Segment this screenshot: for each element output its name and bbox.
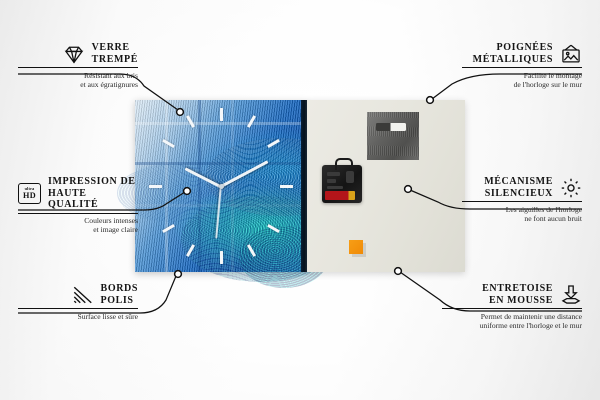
callout-mecanisme-silencieux: MÉCANISME SILENCIEUX Les aiguilles de l'… [462, 176, 582, 223]
callout-rule [462, 67, 582, 68]
callout-desc-line1: Facilite le montage [462, 71, 582, 80]
wall-frame-icon [560, 43, 582, 65]
callout-title-line2: HAUTE QUALITÉ [48, 188, 138, 211]
clock-battery [325, 191, 355, 200]
clock-center-hub [219, 184, 224, 189]
callout-title-line1: POIGNÉES [473, 42, 553, 54]
callout-title-line1: BORDS [101, 283, 138, 295]
metal-hanger-plate [367, 112, 419, 160]
callout-title-line2: MÉTALLIQUES [473, 54, 553, 66]
callout-title-line1: ENTRETOISE [482, 283, 553, 295]
down-arrow-pad-icon [560, 284, 582, 306]
callout-title-line2: SILENCIEUX [484, 188, 553, 200]
clock-tick [220, 108, 223, 121]
callout-rule [442, 308, 582, 309]
callout-desc-line2: de l'horloge sur le mur [462, 80, 582, 89]
clock-tick [220, 251, 223, 264]
callout-title-line2: EN MOUSSE [482, 295, 553, 307]
foam-spacer [349, 240, 363, 254]
callout-title-line1: VERRE [92, 42, 138, 54]
clock-tick [149, 185, 162, 188]
callout-title-line1: MÉCANISME [484, 176, 553, 188]
callout-desc-line2: ne font aucun bruit [462, 214, 582, 223]
infographic-canvas: VERRE TREMPÉ Résistant aux bris et aux é… [0, 0, 600, 400]
callout-poignees-metalliques: POIGNÉES MÉTALLIQUES Facilite le montage… [462, 42, 582, 89]
callout-title-line2: POLIS [101, 295, 138, 307]
callout-title-line1: IMPRESSION DE [48, 176, 138, 188]
callout-verre-trempe: VERRE TREMPÉ Résistant aux bris et aux é… [18, 42, 138, 89]
callout-rule [462, 201, 582, 202]
callout-desc-line1: Surface lisse et sûre [18, 312, 138, 321]
callout-rule [18, 213, 138, 214]
ultra-hd-icon: ultra HD [18, 183, 41, 204]
product-image [135, 100, 465, 272]
ultra-hd-large-text: HD [23, 192, 36, 200]
diamond-icon [63, 43, 85, 65]
callout-impression-haute-qualite: ultra HD IMPRESSION DE HAUTE QUALITÉ Cou… [18, 176, 138, 235]
callout-desc-line2: uniforme entre l'horloge et le mur [442, 321, 582, 330]
callout-bords-polis: BORDS POLIS Surface lisse et sûre [18, 283, 138, 321]
callout-desc-line1: Permet de maintenir une distance [442, 312, 582, 321]
hanger-slot [376, 123, 406, 131]
callout-entretoise-en-mousse: ENTRETOISE EN MOUSSE Permet de maintenir… [442, 283, 582, 330]
callout-desc-line1: Couleurs intenses [18, 216, 138, 225]
silent-clock-mechanism [322, 165, 362, 203]
callout-desc-line1: Résistant aux bris [18, 71, 138, 80]
callout-rule [18, 67, 138, 68]
callout-desc-line2: et image claire [18, 225, 138, 234]
callout-desc-line1: Les aiguilles de l'horloge [462, 205, 582, 214]
callout-title-line2: TREMPÉ [92, 54, 138, 66]
clock-tick [280, 185, 293, 188]
polished-edges-icon [72, 284, 94, 306]
clock-face-front [135, 100, 307, 272]
mechanism-hanging-loop [335, 158, 353, 170]
gear-icon [560, 177, 582, 199]
callout-desc-line2: et aux égratignures [18, 80, 138, 89]
clock-back-panel [307, 100, 465, 272]
callout-rule [18, 308, 138, 309]
